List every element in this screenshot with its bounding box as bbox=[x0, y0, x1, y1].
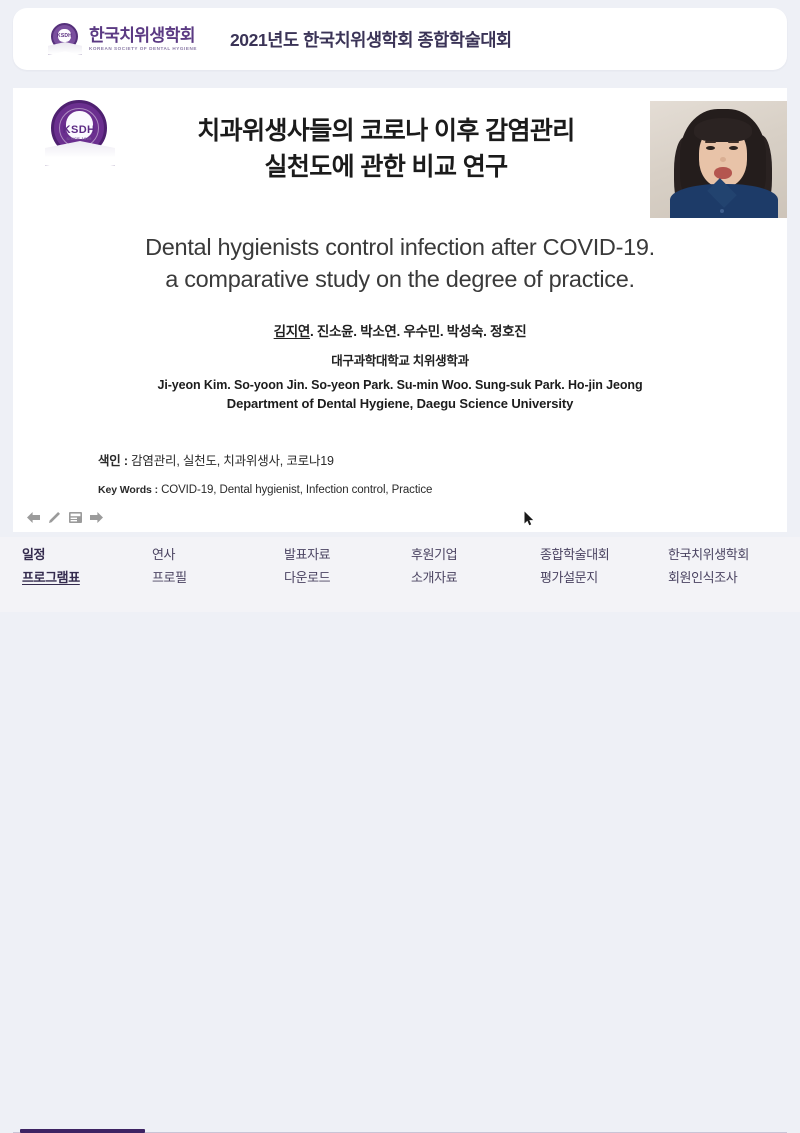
presenter-video-thumbnail[interactable] bbox=[650, 101, 787, 218]
nav-item-line1: 일정 bbox=[22, 547, 45, 562]
bottom-navigation: 일정 프로그램표 연사 프로필 발표자료 다운로드 후원기업 소개자료 종합학술… bbox=[0, 537, 800, 612]
nav-item-line2: 프로필 bbox=[152, 567, 187, 590]
keywords-english-label: Key Words : bbox=[98, 484, 158, 496]
slide-ksdh-logo-icon: KSDH SINCE 1999 bbox=[45, 100, 115, 166]
app-header: KSDH 한국치위생학회 KOREAN SOCIETY OF DENTAL HY… bbox=[13, 8, 787, 70]
nav-item-line1: 종합학술대회 bbox=[540, 547, 609, 562]
slide-subtitle: Dental hygienists control infection afte… bbox=[70, 231, 730, 296]
brand-name-ko: 한국치위생학회 bbox=[89, 27, 197, 44]
keywords-korean-label: 색인 : bbox=[98, 454, 128, 468]
arrow-right-icon[interactable] bbox=[86, 507, 107, 528]
slide-notes-icon[interactable] bbox=[65, 507, 86, 528]
slide-subtitle-line-2: a comparative study on the degree of pra… bbox=[70, 263, 730, 295]
keywords-english-values: COVID-19, Dental hygienist, Infection co… bbox=[158, 484, 432, 496]
slide-subtitle-line-1: Dental hygienists control infection afte… bbox=[70, 231, 730, 263]
coauthors-korean: . 진소윤. 박소연. 우수민. 박성숙. 정호진 bbox=[310, 324, 526, 339]
authors-korean: 김지연. 진소윤. 박소연. 우수민. 박성숙. 정호진 bbox=[70, 320, 730, 340]
keywords-korean: 색인 : 감염관리, 실천도, 치과위생사, 코로나19 bbox=[98, 450, 334, 469]
slide-logo-sublabel: SINCE 1999 bbox=[51, 136, 107, 141]
slide-title: 치과위생사들의 코로나 이후 감염관리 실천도에 관한 비교 연구 bbox=[131, 114, 641, 185]
pencil-icon[interactable] bbox=[44, 507, 65, 528]
arrow-left-icon[interactable] bbox=[23, 507, 44, 528]
nav-item-line2: 소개자료 bbox=[411, 567, 457, 590]
nav-item-line2: 평가설문지 bbox=[540, 567, 609, 590]
page-title: 2021년도 한국치위생학회 종합학술대회 bbox=[230, 27, 512, 52]
nav-item-member-survey[interactable]: 한국치위생학회 회원인식조사 bbox=[668, 544, 749, 590]
keywords-english: Key Words : COVID-19, Dental hygienist, … bbox=[98, 484, 432, 496]
nav-item-line2: 프로그램표 bbox=[22, 567, 80, 590]
nav-item-line1: 후원기업 bbox=[411, 547, 457, 562]
slide-title-line-2: 실천도에 관한 비교 연구 bbox=[131, 150, 641, 186]
affiliation-korean: 대구과학대학교 치위생학과 bbox=[70, 350, 730, 369]
slide-logo-label: KSDH bbox=[51, 124, 107, 136]
nav-item-sponsors[interactable]: 후원기업 소개자료 bbox=[411, 544, 457, 590]
nav-item-line1: 한국치위생학회 bbox=[668, 547, 749, 562]
keywords-korean-values: 감염관리, 실천도, 치과위생사, 코로나19 bbox=[128, 454, 334, 468]
nav-item-line1: 연사 bbox=[152, 547, 175, 562]
brand-name-en: KOREAN SOCIETY OF DENTAL HYGIENE bbox=[89, 47, 197, 52]
slide-title-line-1: 치과위생사들의 코로나 이후 감염관리 bbox=[131, 114, 641, 150]
nav-active-indicator bbox=[20, 1129, 145, 1133]
ksdh-emblem-icon: KSDH bbox=[48, 22, 82, 56]
nav-item-schedule[interactable]: 일정 프로그램표 bbox=[22, 544, 80, 590]
lead-author-korean: 김지연 bbox=[274, 324, 310, 339]
brand-text: 한국치위생학회 KOREAN SOCIETY OF DENTAL HYGIENE bbox=[89, 27, 197, 52]
brand-logo[interactable]: KSDH 한국치위생학회 KOREAN SOCIETY OF DENTAL HY… bbox=[48, 22, 197, 56]
emblem-label: KSDH bbox=[51, 33, 78, 39]
slide-viewer[interactable]: KSDH SINCE 1999 치과위생사들의 코로나 이후 감염관리 실천도에… bbox=[13, 88, 787, 502]
nav-item-presentations[interactable]: 발표자료 다운로드 bbox=[284, 544, 330, 590]
nav-item-line1: 발표자료 bbox=[284, 547, 330, 562]
nav-item-line2: 다운로드 bbox=[284, 567, 330, 590]
slide-toolbar bbox=[13, 502, 787, 532]
nav-item-survey[interactable]: 종합학술대회 평가설문지 bbox=[540, 544, 609, 590]
nav-item-line2: 회원인식조사 bbox=[668, 567, 749, 590]
affiliation-english: Department of Dental Hygiene, Daegu Scie… bbox=[70, 396, 730, 411]
nav-items-row: 일정 프로그램표 연사 프로필 발표자료 다운로드 후원기업 소개자료 종합학술… bbox=[0, 537, 800, 593]
authors-english: Ji-yeon Kim. So-yoon Jin. So-yeon Park. … bbox=[70, 378, 730, 392]
nav-item-speakers[interactable]: 연사 프로필 bbox=[152, 544, 187, 590]
